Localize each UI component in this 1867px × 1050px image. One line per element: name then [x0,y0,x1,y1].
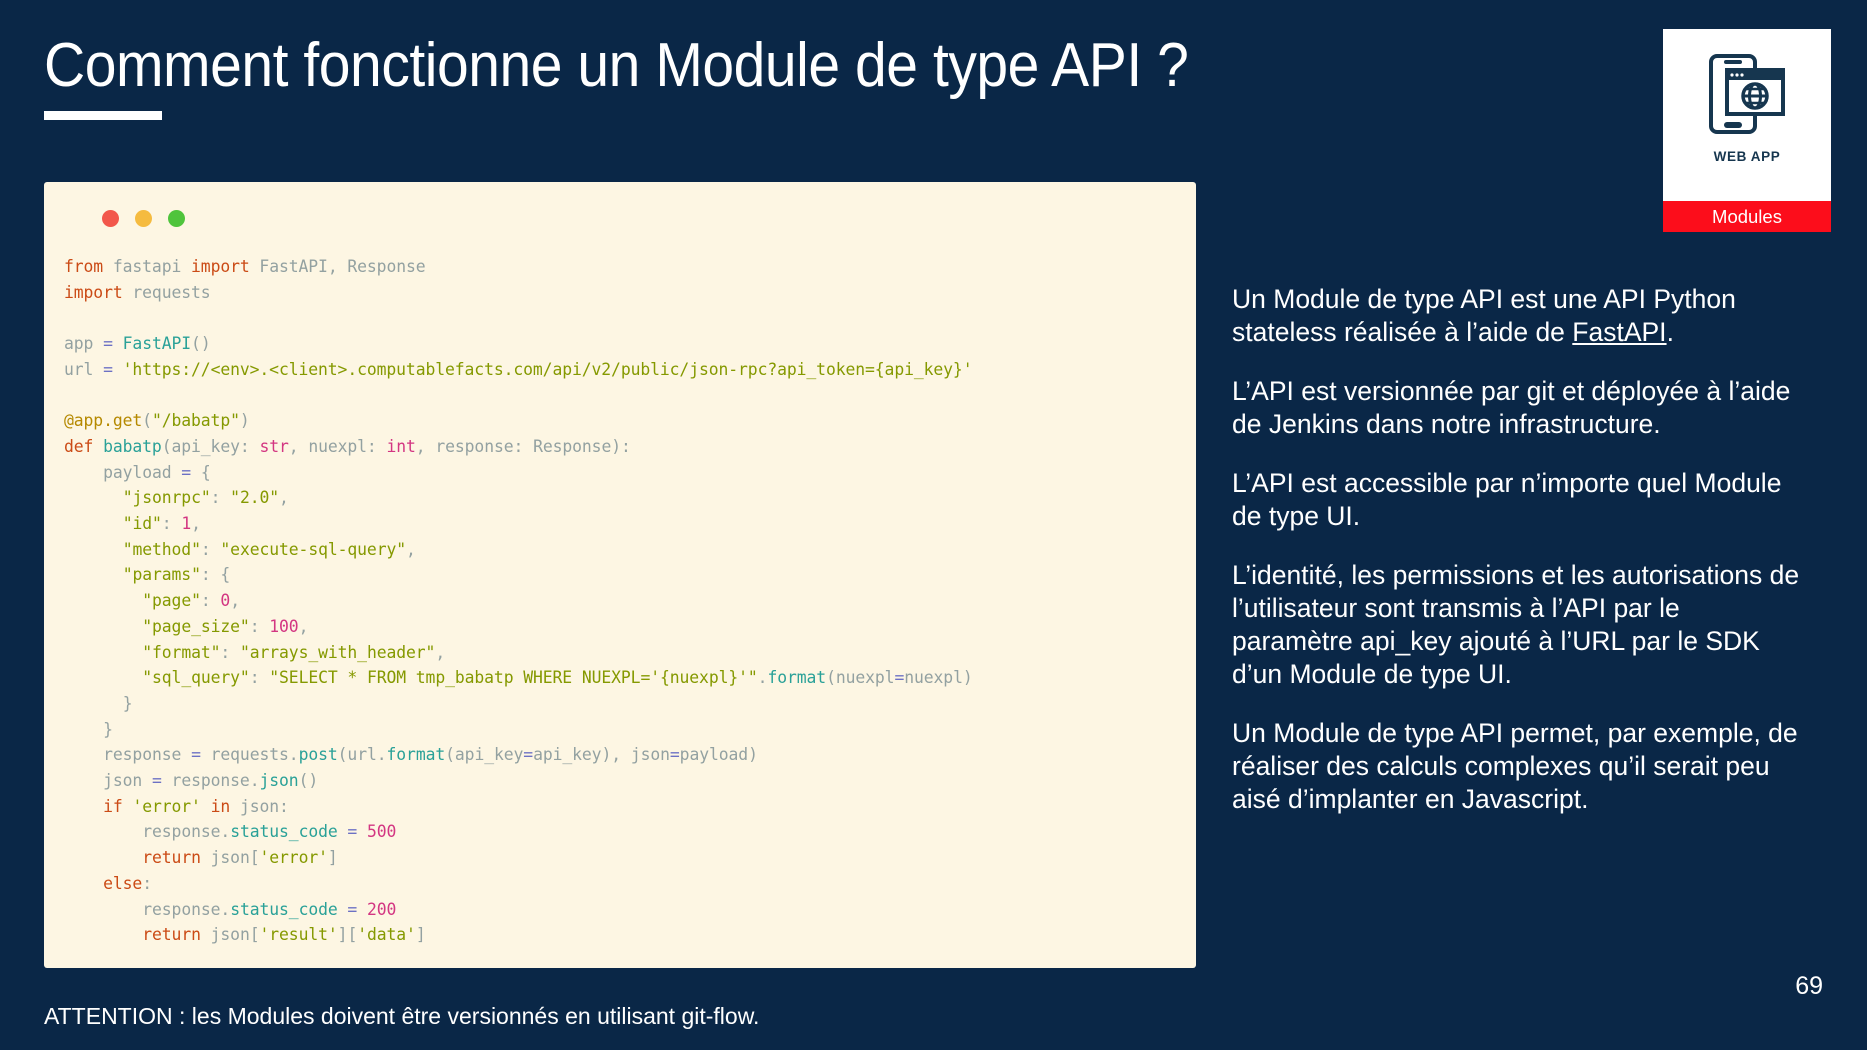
code-line: json = response.json() [64,768,1196,794]
code-window: from fastapi import FastAPI, Responseimp… [44,182,1196,968]
code-line: payload = { [64,460,1196,486]
code-line: def babatp(api_key: str, nuexpl: int, re… [64,434,1196,460]
slide-root: Comment fonctionne un Module de type API… [0,0,1867,1050]
code-line: @app.get("/babatp") [64,408,1196,434]
code-line: "id": 1, [64,511,1196,537]
web-app-phone-globe-icon [1708,53,1786,135]
code-line: response = requests.post(url.format(api_… [64,742,1196,768]
page-number: 69 [1795,972,1823,1001]
code-line: response.status_code = 200 [64,897,1196,923]
maximize-dot-icon[interactable] [168,210,185,227]
code-line: return json['error'] [64,845,1196,871]
footer-note: ATTENTION : les Modules doivent être ver… [44,1003,759,1030]
page-title: Comment fonctionne un Module de type API… [44,30,1188,101]
notes-column: Un Module de type API est une API Python… [1232,283,1802,816]
code-line: import requests [64,280,1196,306]
code-line: "page_size": 100, [64,614,1196,640]
title-underline-rule [44,111,162,120]
code-line: "sql_query": "SELECT * FROM tmp_babatp W… [64,665,1196,691]
note-paragraph: L’identité, les permissions et les autor… [1232,559,1802,691]
code-line [64,305,1196,331]
note-paragraph: Un Module de type API permet, par exempl… [1232,717,1802,816]
code-line: "params": { [64,562,1196,588]
badge-modules-strip[interactable]: Modules [1663,201,1831,232]
code-line: } [64,691,1196,717]
close-dot-icon[interactable] [102,210,119,227]
code-line: "jsonrpc": "2.0", [64,485,1196,511]
code-line: "format": "arrays_with_header", [64,640,1196,666]
note-paragraph: L’API est versionnée par git et déployée… [1232,375,1802,441]
note-paragraph: L’API est accessible par n’importe quel … [1232,467,1802,533]
note-paragraph: Un Module de type API est une API Python… [1232,283,1802,349]
code-line: "page": 0, [64,588,1196,614]
code-line: app = FastAPI() [64,331,1196,357]
code-line: if 'error' in json: [64,794,1196,820]
window-traffic-lights [102,210,185,227]
code-line: url = 'https://<env>.<client>.computable… [64,357,1196,383]
code-line: } [64,717,1196,743]
code-line: else: [64,871,1196,897]
minimize-dot-icon[interactable] [135,210,152,227]
badge-label: WEB APP [1714,149,1781,164]
web-app-badge: WEB APP [1663,29,1831,201]
code-block: from fastapi import FastAPI, Responseimp… [64,254,1196,948]
code-line [64,383,1196,409]
code-line: "method": "execute-sql-query", [64,537,1196,563]
code-line: return json['result']['data'] [64,922,1196,948]
code-line: response.status_code = 500 [64,819,1196,845]
fastapi-link[interactable]: FastAPI [1572,317,1666,347]
code-line: from fastapi import FastAPI, Response [64,254,1196,280]
